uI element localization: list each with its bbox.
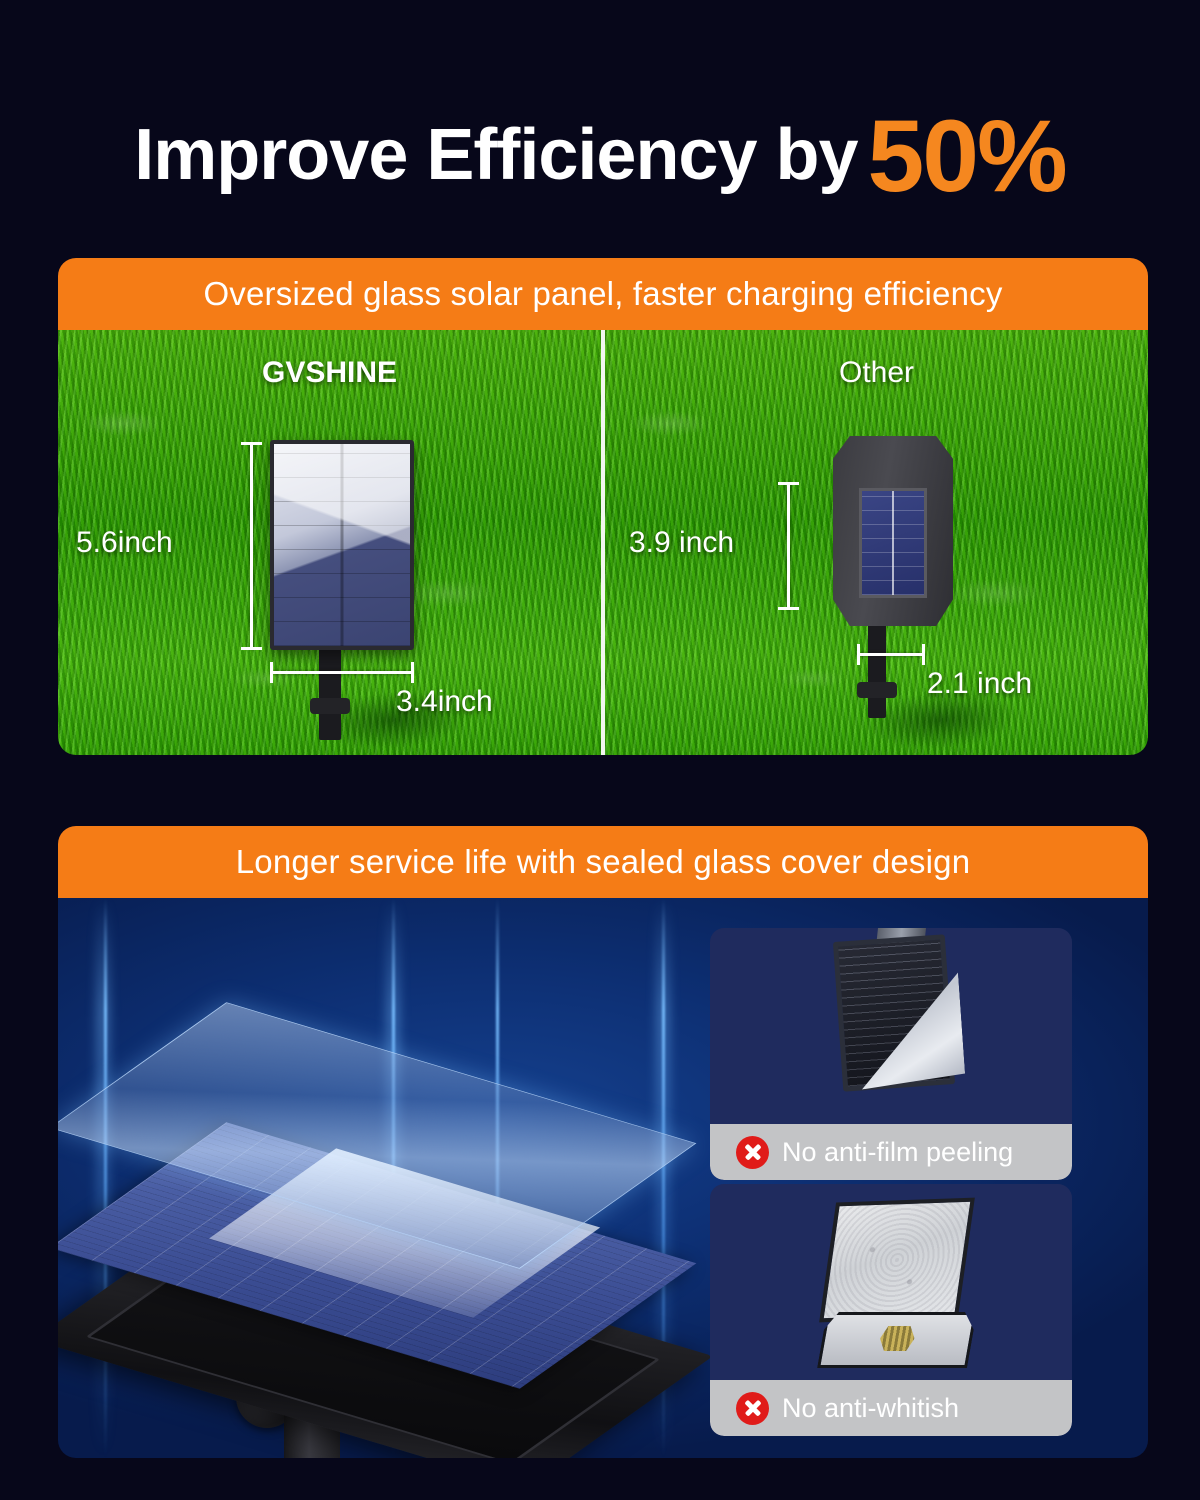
headline-main-text: Improve Efficiency by [134,115,857,195]
comparison-side-gvshine: GVSHINE 5.6inch 3.4inch [58,330,601,755]
other-height-label: 3.9 inch [629,526,734,560]
gvshine-solar-panel [270,440,414,650]
whitish-solar-surface [819,1198,975,1323]
whitish-lamp-base [817,1312,977,1368]
feature-banner-sealed-glass-text: Longer service life with sealed glass co… [236,843,971,881]
callout-bar-film-peeling: No anti-film peeling [710,1124,1072,1180]
gvshine-width-label: 3.4inch [396,685,493,719]
callout-text-whitish: No anti-whitish [782,1393,959,1424]
callout-bar-whitish: No anti-whitish [710,1380,1072,1436]
light-streak [104,898,107,1458]
other-height-dimension-line [787,482,790,610]
infographic-page: Improve Efficiency by50% Oversized glass… [0,0,1200,1500]
headline-accent-percent: 50% [868,99,1066,213]
gvshine-height-label: 5.6inch [76,526,173,560]
red-x-circle-icon [736,1392,769,1425]
other-solar-lamp [833,436,953,626]
other-lamp-solar-cell [859,488,927,598]
other-width-label: 2.1 inch [927,667,1032,701]
defect-card-whitish: No anti-whitish [710,1184,1072,1436]
other-width-dimension-line [857,653,925,656]
defect-card-film-peeling: No anti-film peeling [710,928,1072,1180]
red-x-circle-icon [736,1136,769,1169]
comparison-label-other: Other [605,356,1148,390]
other-stake-collar [857,682,897,698]
callout-text-film-peeling: No anti-film peeling [782,1137,1013,1168]
feature-banner-sealed-glass: Longer service life with sealed glass co… [58,826,1148,898]
page-headline: Improve Efficiency by50% [0,86,1200,203]
gvshine-stake-collar [310,698,350,714]
feature-banner-solar-panel-text: Oversized glass solar panel, faster char… [203,275,1002,313]
sealed-glass-panel: No anti-film peeling No anti-whitish [58,898,1148,1458]
gvshine-height-dimension-line [250,442,253,650]
whitish-panel-photo [710,1184,1072,1380]
comparison-label-gvshine: GVSHINE [58,356,601,390]
gvshine-width-dimension-line [270,671,414,674]
gvshine-panel-face [274,444,410,646]
comparison-side-other: Other 3.9 inch 2.1 inch [605,330,1148,755]
gvshine-stake [319,648,341,740]
size-comparison-panel: GVSHINE 5.6inch 3.4inch Other [58,330,1148,755]
feature-banner-solar-panel: Oversized glass solar panel, faster char… [58,258,1148,330]
film-peeling-photo [710,928,1072,1124]
other-stake [868,622,886,718]
